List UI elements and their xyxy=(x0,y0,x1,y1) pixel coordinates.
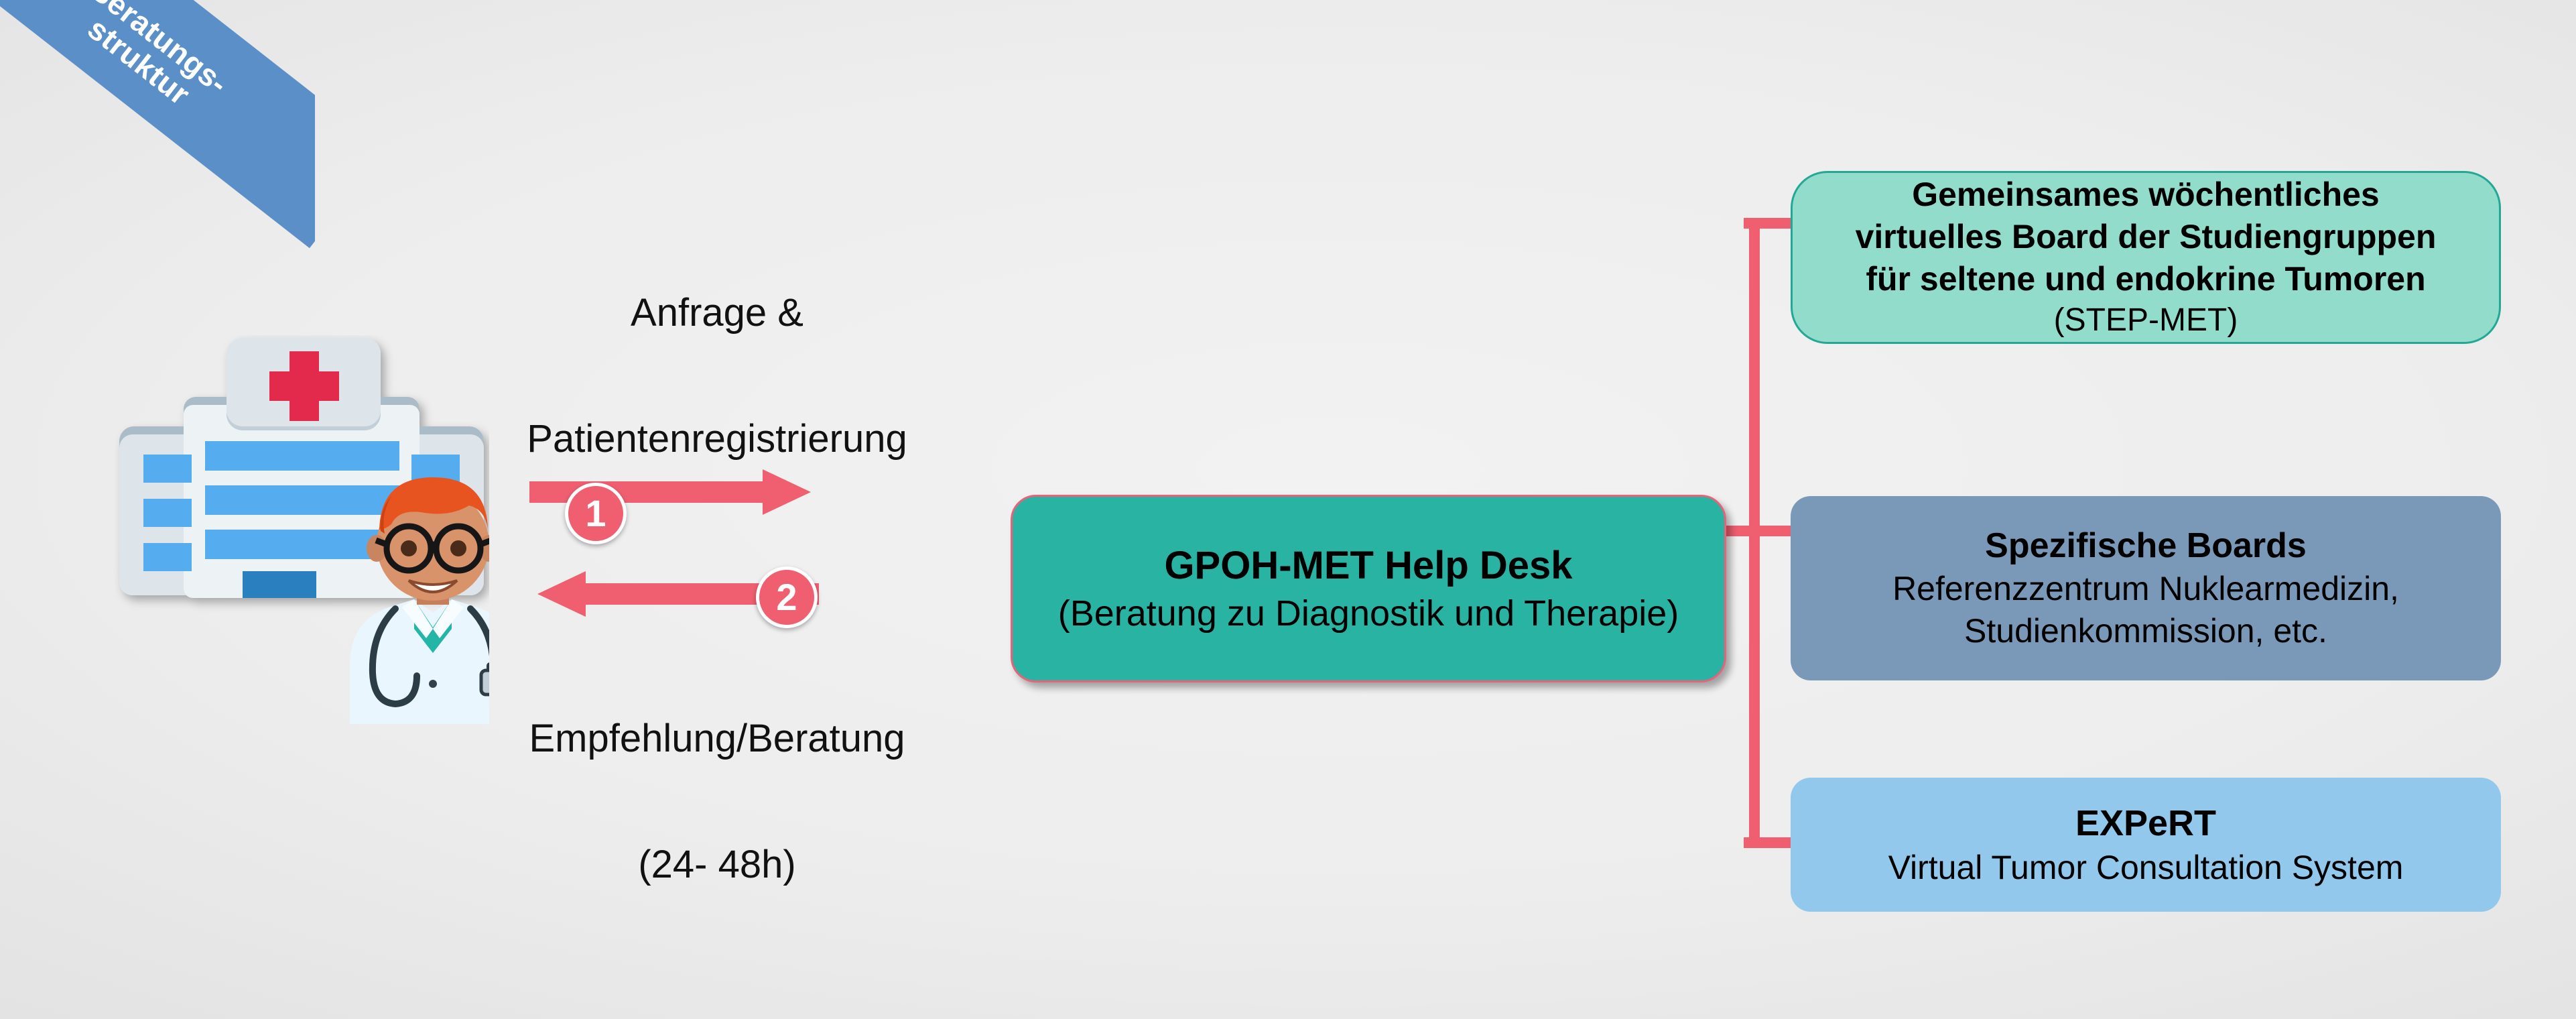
specific-boards-title: Spezifische Boards xyxy=(1985,524,2307,568)
expert-subtitle: Virtual Tumor Consultation System xyxy=(1888,847,2404,889)
expert-title: EXPeRT xyxy=(2075,800,2216,846)
step-met-title: Gemeinsames wöchentliches virtuelles Boa… xyxy=(1856,174,2437,300)
ribbon-band: Beratungs- struktur xyxy=(0,0,315,248)
advice-label: Empfehlung/Beratung (24- 48h) xyxy=(469,707,965,896)
node-expert[interactable]: EXPeRT Virtual Tumor Consultation System xyxy=(1791,778,2501,912)
ribbon-label: Beratungs- struktur xyxy=(64,0,234,125)
step-badge-1: 1 xyxy=(565,483,627,544)
diagram-canvas: Beratungs- struktur xyxy=(0,0,2576,1019)
node-specific-boards[interactable]: Spezifische Boards Referenzzentrum Nukle… xyxy=(1791,496,2501,680)
node-step-met[interactable]: Gemeinsames wöchentliches virtuelles Boa… xyxy=(1791,171,2501,344)
helpdesk-subtitle: (Beratung zu Diagnostik und Therapie) xyxy=(1058,591,1679,636)
node-helpdesk[interactable]: GPOH-MET Help Desk (Beratung zu Diagnost… xyxy=(1011,495,1726,682)
step-badge-2: 2 xyxy=(756,566,818,628)
helpdesk-title: GPOH-MET Help Desk xyxy=(1164,541,1572,590)
request-label: Anfrage & Patientenregistrierung xyxy=(469,282,965,471)
specific-boards-subtitle: Referenzzentrum Nuklearmedizin, Studienk… xyxy=(1892,568,2399,652)
hospital-with-doctor-illustration xyxy=(114,335,489,724)
step-met-subtitle: (STEP-MET) xyxy=(2054,300,2238,341)
corner-ribbon: Beratungs- struktur xyxy=(0,0,315,288)
